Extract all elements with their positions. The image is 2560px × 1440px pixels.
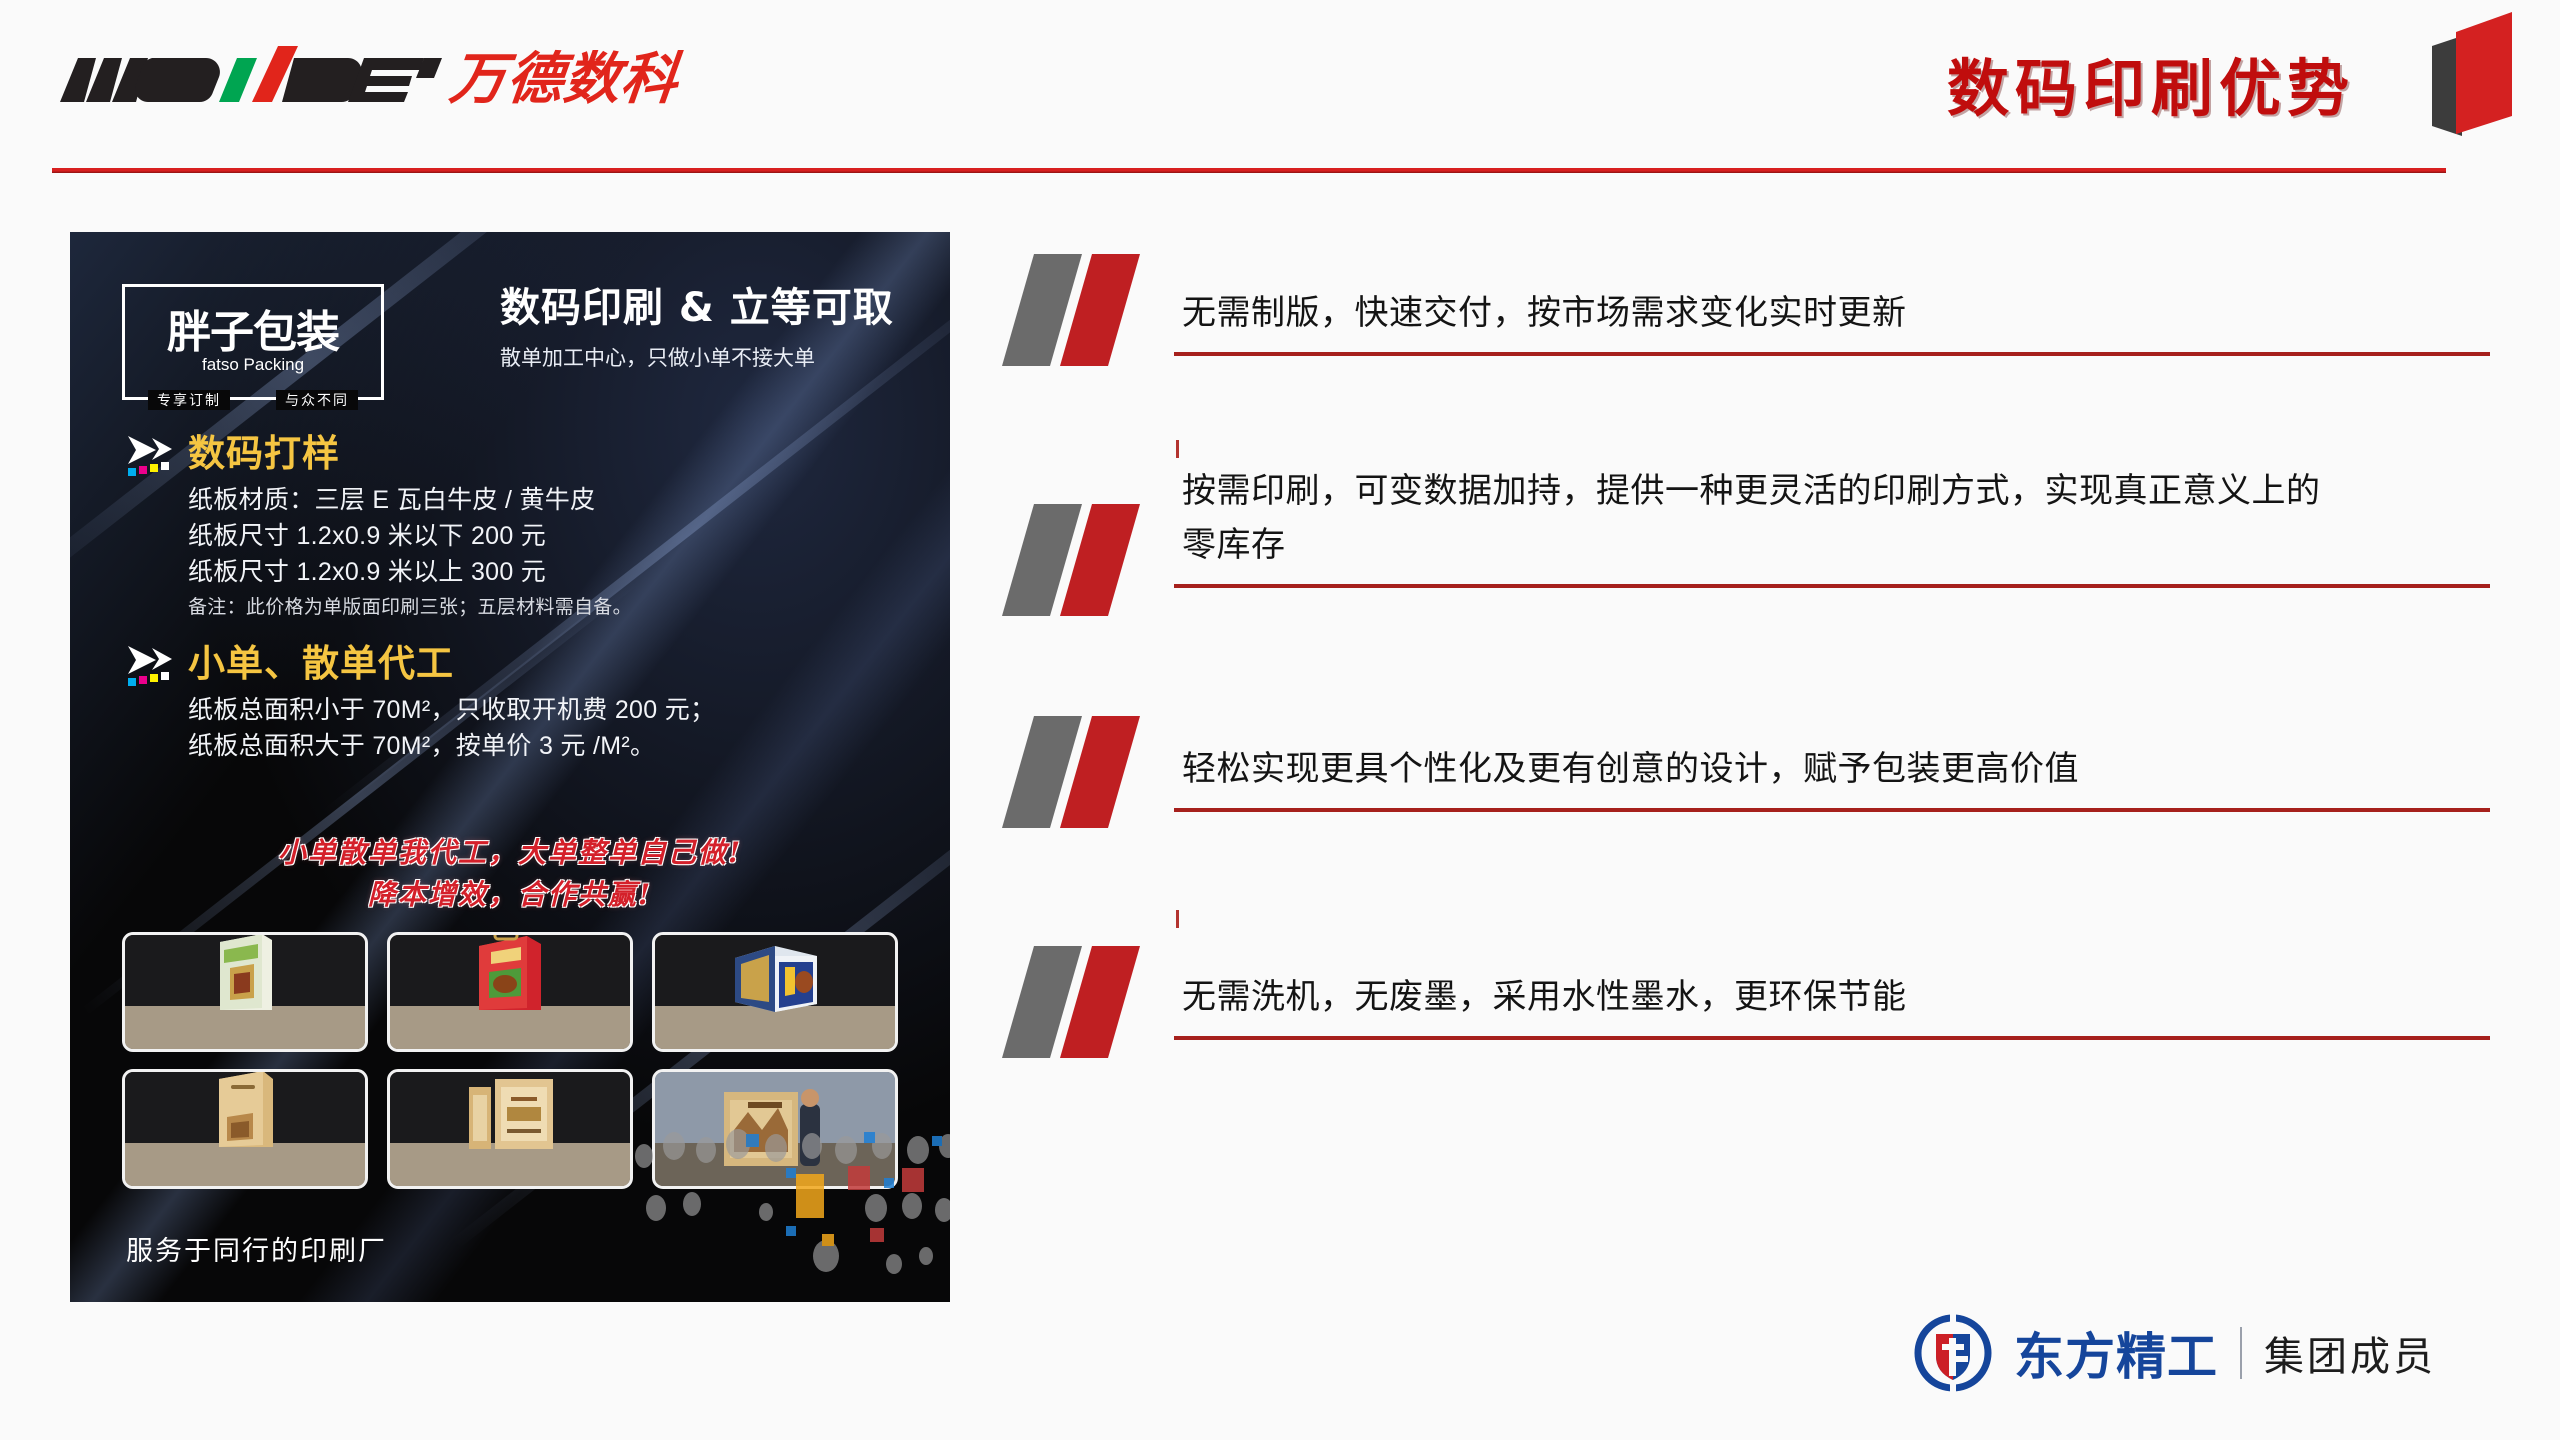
dongfang-emblem-icon [1914,1314,1992,1392]
section-line: 纸板总面积小于 70M²，只收取开机费 200 元； [188,692,926,728]
fatso-badge-tagline: 专享订制 与众不同 [125,390,381,410]
fatso-badge-cn: 胖子包装 [167,310,339,356]
fatso-badge-en: fatso Packing [202,356,304,374]
advantage-underline [1174,584,2490,588]
poster-section-digital-proofing: 数码打样 纸板材质：三层 E 瓦白牛皮 / 黄牛皮 纸板尺寸 1.2x0.9 米… [126,432,926,623]
product-photo [387,1069,633,1189]
group-member-logo: 东方精工 集团成员 [1914,1314,2436,1392]
poster-slogan: 小单散单我代工，大单整单自己做! 降本增效，合作共赢! [70,832,950,916]
advantage-item: 轻松实现更具个性化及更有创意的设计，赋予包装更高价值 [1000,712,2340,832]
poster-subhead: 散单加工中心，只做小单不接大单 [500,342,920,372]
advantage-underline [1174,1036,2490,1040]
page-header: 万德数科 数码印刷优势 [0,0,2560,160]
wonder-wordmark-icon [56,44,446,108]
advantage-underline [1174,352,2490,356]
poster-footer-text: 服务于同行的印刷厂 [126,1229,387,1268]
section-line: 纸板尺寸 1.2x0.9 米以上 300 元 [188,554,926,590]
advantage-item: 无需制版，快速交付，按市场需求变化实时更新 [1000,250,2340,370]
section-title: 数码打样 [188,432,926,476]
advantage-text: 无需制版，快速交付，按市场需求变化实时更新 [1182,286,2340,340]
advantage-item: 按需印刷，可变数据加持，提供一种更灵活的印刷方式，实现真正意义上的零库存 [1000,456,2340,626]
section-lines: 纸板总面积小于 70M²，只收取开机费 200 元； 纸板总面积大于 70M²，… [188,692,926,764]
advantages-list: 无需制版，快速交付，按市场需求变化实时更新 按需印刷，可变数据加持，提供一种更灵… [1000,250,2340,1148]
double-chevron-marker-icon [1000,712,1160,832]
poster-headline: 数码印刷 & 立等可取 [500,284,920,332]
advantage-body: 无需洗机，无废墨，采用水性墨水，更环保节能 [1182,922,2340,1036]
dongfang-name: 东方精工 [2014,1317,2218,1389]
footer-logo-divider [2240,1327,2242,1379]
advantage-text: 轻松实现更具个性化及更有创意的设计，赋予包装更高价值 [1182,742,2340,796]
section-title: 小单、散单代工 [188,642,926,686]
section-note: 备注：此价格为单版面印刷三张；五层材料需自备。 [188,593,926,623]
corner-ribbon-icon [2426,6,2536,138]
advantage-text: 按需印刷，可变数据加持，提供一种更灵活的印刷方式，实现真正意义上的零库存 [1182,464,2340,572]
product-photo [122,1069,368,1189]
product-photo [652,932,898,1052]
fatso-tagline-left: 专享订制 [148,390,230,410]
chevron-arrow-icon [126,434,182,480]
advantage-text: 无需洗机，无废墨，采用水性墨水，更环保节能 [1182,970,2340,1024]
dot-pattern-decoration [626,1116,950,1302]
product-photo [122,932,368,1052]
double-chevron-marker-icon [1000,942,1160,1062]
fatso-packing-badge: 胖子包装 fatso Packing 专享订制 与众不同 [122,284,384,400]
fatso-tagline-right: 与众不同 [276,390,358,410]
section-line: 纸板材质：三层 E 瓦白牛皮 / 黄牛皮 [188,482,926,518]
page-title: 数码印刷优势 [1947,38,2355,128]
advantage-body: 按需印刷，可变数据加持，提供一种更灵活的印刷方式，实现真正意义上的零库存 [1182,456,2340,584]
promo-poster-image: 胖子包装 fatso Packing 专享订制 与众不同 数码印刷 & 立等可取… [70,232,950,1302]
advantage-body: 无需制版，快速交付，按市场需求变化实时更新 [1182,250,2340,352]
advantage-body: 轻松实现更具个性化及更有创意的设计，赋予包装更高价值 [1182,712,2340,808]
chevron-arrow-icon [126,644,182,690]
double-chevron-marker-icon [1000,500,1160,620]
slogan-line-2: 降本增效，合作共赢! [70,874,950,916]
section-line: 纸板尺寸 1.2x0.9 米以下 200 元 [188,518,926,554]
advantage-underline [1174,808,2490,812]
product-photo [387,932,633,1052]
poster-headline-block: 数码印刷 & 立等可取 散单加工中心，只做小单不接大单 [500,284,920,372]
double-chevron-marker-icon [1000,250,1160,370]
tick-mark [1176,440,1179,458]
brand-logo: 万德数科 [56,38,678,108]
section-line: 纸板总面积大于 70M²，按单价 3 元 /M²。 [188,728,926,764]
header-divider [52,168,2446,173]
group-member-label: 集团成员 [2264,1324,2436,1382]
tick-mark [1176,910,1179,928]
section-lines: 纸板材质：三层 E 瓦白牛皮 / 黄牛皮 纸板尺寸 1.2x0.9 米以下 20… [188,482,926,623]
poster-section-small-order-oem: 小单、散单代工 纸板总面积小于 70M²，只收取开机费 200 元； 纸板总面积… [126,642,926,764]
slogan-line-1: 小单散单我代工，大单整单自己做! [70,832,950,874]
brand-name-cn: 万德数科 [447,52,681,108]
advantage-item: 无需洗机，无废墨，采用水性墨水，更环保节能 [1000,922,2340,1042]
